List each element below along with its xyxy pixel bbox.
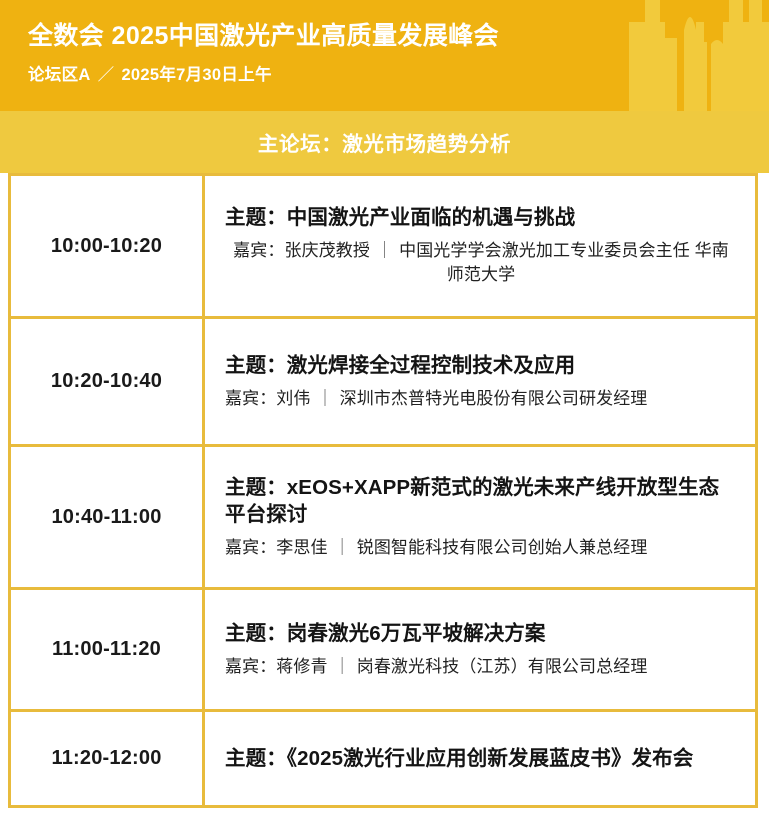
- session-guest: 嘉宾：李思佳｜锐图智能科技有限公司创始人兼总经理: [225, 536, 737, 560]
- guest-separator: ｜: [311, 387, 340, 411]
- header-text-block: 全数会 2025中国激光产业高质量发展峰会 论坛区A／2025年7月30日上午: [28, 22, 499, 85]
- session-time: 10:20-10:40: [51, 370, 162, 393]
- guest-separator: ｜: [328, 536, 357, 560]
- session-time-cell: 11:20-12:00: [11, 712, 205, 805]
- session-title: 主题：xEOS+XAPP新范式的激光未来产线开放型生态平台探讨: [225, 474, 737, 530]
- agenda-poster: 全数会 2025中国激光产业高质量发展峰会 论坛区A／2025年7月30日上午 …: [0, 0, 769, 814]
- forum-title-label: 主论坛：激光市场趋势分析: [258, 127, 511, 157]
- session-title: 主题：岗春激光6万瓦平坡解决方案: [225, 620, 737, 648]
- date-label: 2025年7月30日上午: [121, 66, 271, 84]
- city-skyline-decoration: [629, 0, 769, 111]
- session-detail-cell: 主题：中国激光产业面临的机遇与挑战 嘉宾：张庆茂教授｜中国光学学会激光加工专业委…: [205, 176, 755, 316]
- venue-label: 论坛区A: [28, 66, 91, 84]
- session-title: 主题：中国激光产业面临的机遇与挑战: [225, 204, 737, 232]
- guest-separator: ｜: [328, 655, 357, 679]
- session-time-cell: 11:00-11:20: [11, 590, 205, 709]
- guest-name: 嘉宾：蒋修青: [225, 657, 328, 676]
- guest-affiliation: 岗春激光科技（江苏）有限公司总经理: [357, 657, 648, 676]
- session-guest: 嘉宾：刘伟｜深圳市杰普特光电股份有限公司研发经理: [225, 387, 737, 411]
- session-detail-cell: 主题：《2025激光行业应用创新发展蓝皮书》发布会: [205, 712, 755, 805]
- table-row[interactable]: 11:20-12:00 主题：《2025激光行业应用创新发展蓝皮书》发布会: [11, 712, 755, 808]
- session-time: 11:00-11:20: [52, 638, 161, 661]
- session-detail-cell: 主题：岗春激光6万瓦平坡解决方案 嘉宾：蒋修青｜岗春激光科技（江苏）有限公司总经…: [205, 590, 755, 709]
- session-guest: 嘉宾：蒋修青｜岗春激光科技（江苏）有限公司总经理: [225, 655, 737, 679]
- session-time: 10:00-10:20: [51, 235, 162, 258]
- header-subtitle: 论坛区A／2025年7月30日上午: [28, 61, 499, 85]
- guest-name: 嘉宾：张庆茂教授: [233, 241, 370, 260]
- table-row[interactable]: 10:00-10:20 主题：中国激光产业面临的机遇与挑战 嘉宾：张庆茂教授｜中…: [11, 176, 755, 319]
- page-title: 全数会 2025中国激光产业高质量发展峰会: [28, 22, 499, 52]
- guest-affiliation: 中国光学学会激光加工专业委员会主任 华南师范大学: [399, 241, 729, 284]
- agenda-table: 10:00-10:20 主题：中国激光产业面临的机遇与挑战 嘉宾：张庆茂教授｜中…: [8, 173, 758, 808]
- guest-affiliation: 深圳市杰普特光电股份有限公司研发经理: [340, 389, 648, 408]
- session-time: 10:40-11:00: [51, 506, 161, 529]
- session-time-cell: 10:40-11:00: [11, 447, 205, 587]
- session-time-cell: 10:00-10:20: [11, 176, 205, 316]
- guest-separator: ｜: [370, 239, 399, 263]
- guest-affiliation: 锐图智能科技有限公司创始人兼总经理: [357, 538, 648, 557]
- table-row[interactable]: 11:00-11:20 主题：岗春激光6万瓦平坡解决方案 嘉宾：蒋修青｜岗春激光…: [11, 590, 755, 712]
- session-title: 主题：激光焊接全过程控制技术及应用: [225, 352, 737, 380]
- guest-name: 嘉宾：李思佳: [225, 538, 328, 557]
- session-detail-cell: 主题：激光焊接全过程控制技术及应用 嘉宾：刘伟｜深圳市杰普特光电股份有限公司研发…: [205, 319, 755, 444]
- session-guest: 嘉宾：张庆茂教授｜中国光学学会激光加工专业委员会主任 华南师范大学: [225, 239, 737, 287]
- poster-header: 全数会 2025中国激光产业高质量发展峰会 论坛区A／2025年7月30日上午: [0, 0, 769, 111]
- session-detail-cell: 主题：xEOS+XAPP新范式的激光未来产线开放型生态平台探讨 嘉宾：李思佳｜锐…: [205, 447, 755, 587]
- separator-glyph: ／: [91, 61, 122, 85]
- forum-title-band: 主论坛：激光市场趋势分析: [0, 111, 769, 173]
- table-row[interactable]: 10:20-10:40 主题：激光焊接全过程控制技术及应用 嘉宾：刘伟｜深圳市杰…: [11, 319, 755, 447]
- session-time: 11:20-12:00: [51, 747, 161, 770]
- guest-name: 嘉宾：刘伟: [225, 389, 311, 408]
- table-row[interactable]: 10:40-11:00 主题：xEOS+XAPP新范式的激光未来产线开放型生态平…: [11, 447, 755, 590]
- session-time-cell: 10:20-10:40: [11, 319, 205, 444]
- session-title: 主题：《2025激光行业应用创新发展蓝皮书》发布会: [225, 745, 737, 773]
